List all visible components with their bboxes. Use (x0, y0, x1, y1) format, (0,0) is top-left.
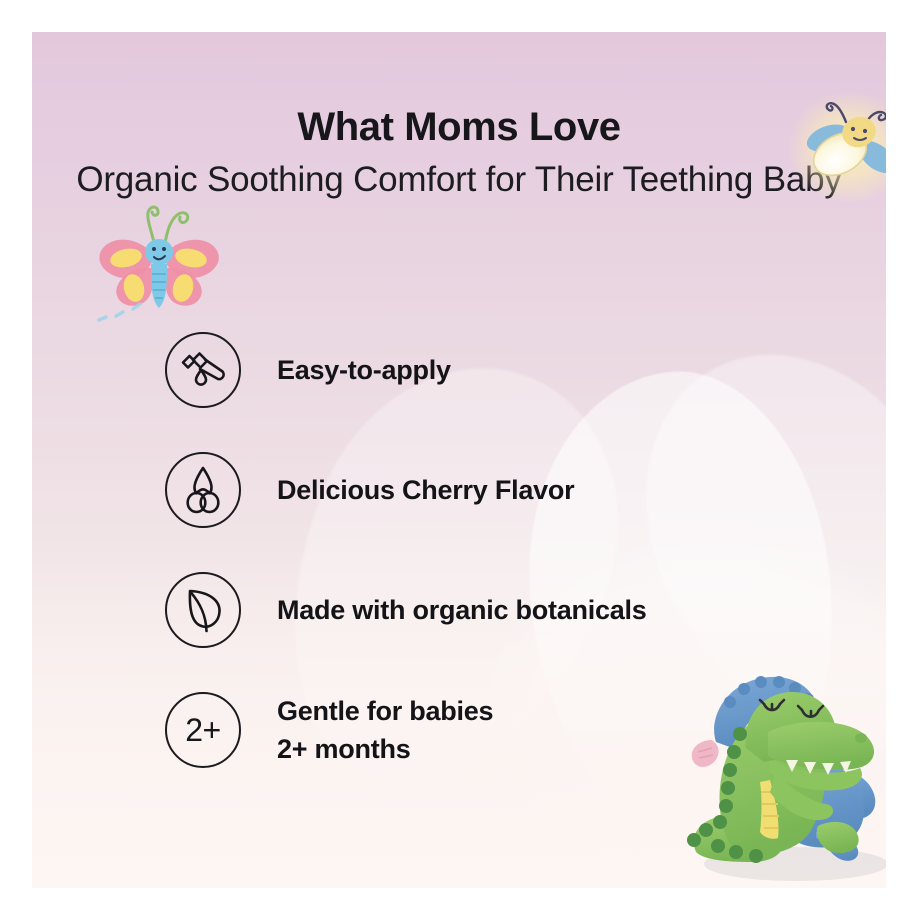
cherries-icon (165, 452, 241, 528)
feature-item-easy-to-apply: Easy-to-apply (165, 310, 865, 430)
butterfly-illustration (85, 192, 231, 324)
age-badge-label: 2+ (185, 714, 220, 746)
page-title: What Moms Love (32, 104, 886, 151)
feature-item-cherry-flavor: Delicious Cherry Flavor (165, 430, 865, 550)
feature-label: Delicious Cherry Flavor (277, 471, 574, 509)
product-feature-card: What Moms Love Organic Soothing Comfort … (32, 32, 886, 888)
feature-label: Easy-to-apply (277, 351, 451, 389)
butterfly-trail (99, 304, 140, 320)
blue-croc-hand (692, 740, 719, 767)
green-crocodile (687, 692, 874, 863)
feature-item-organic-botanicals: Made with organic botanicals (165, 550, 865, 670)
dropper-icon (165, 332, 241, 408)
leaf-icon (165, 572, 241, 648)
screenshot-root: What Moms Love Organic Soothing Comfort … (0, 0, 918, 924)
crocodile-plush-illustration (668, 656, 886, 886)
firefly-illustration (784, 82, 886, 204)
feature-label: Gentle for babies 2+ months (277, 692, 493, 769)
heading-group: What Moms Love Organic Soothing Comfort … (32, 104, 886, 203)
feature-label: Made with organic botanicals (277, 591, 647, 629)
age-badge-icon: 2+ (165, 692, 241, 768)
